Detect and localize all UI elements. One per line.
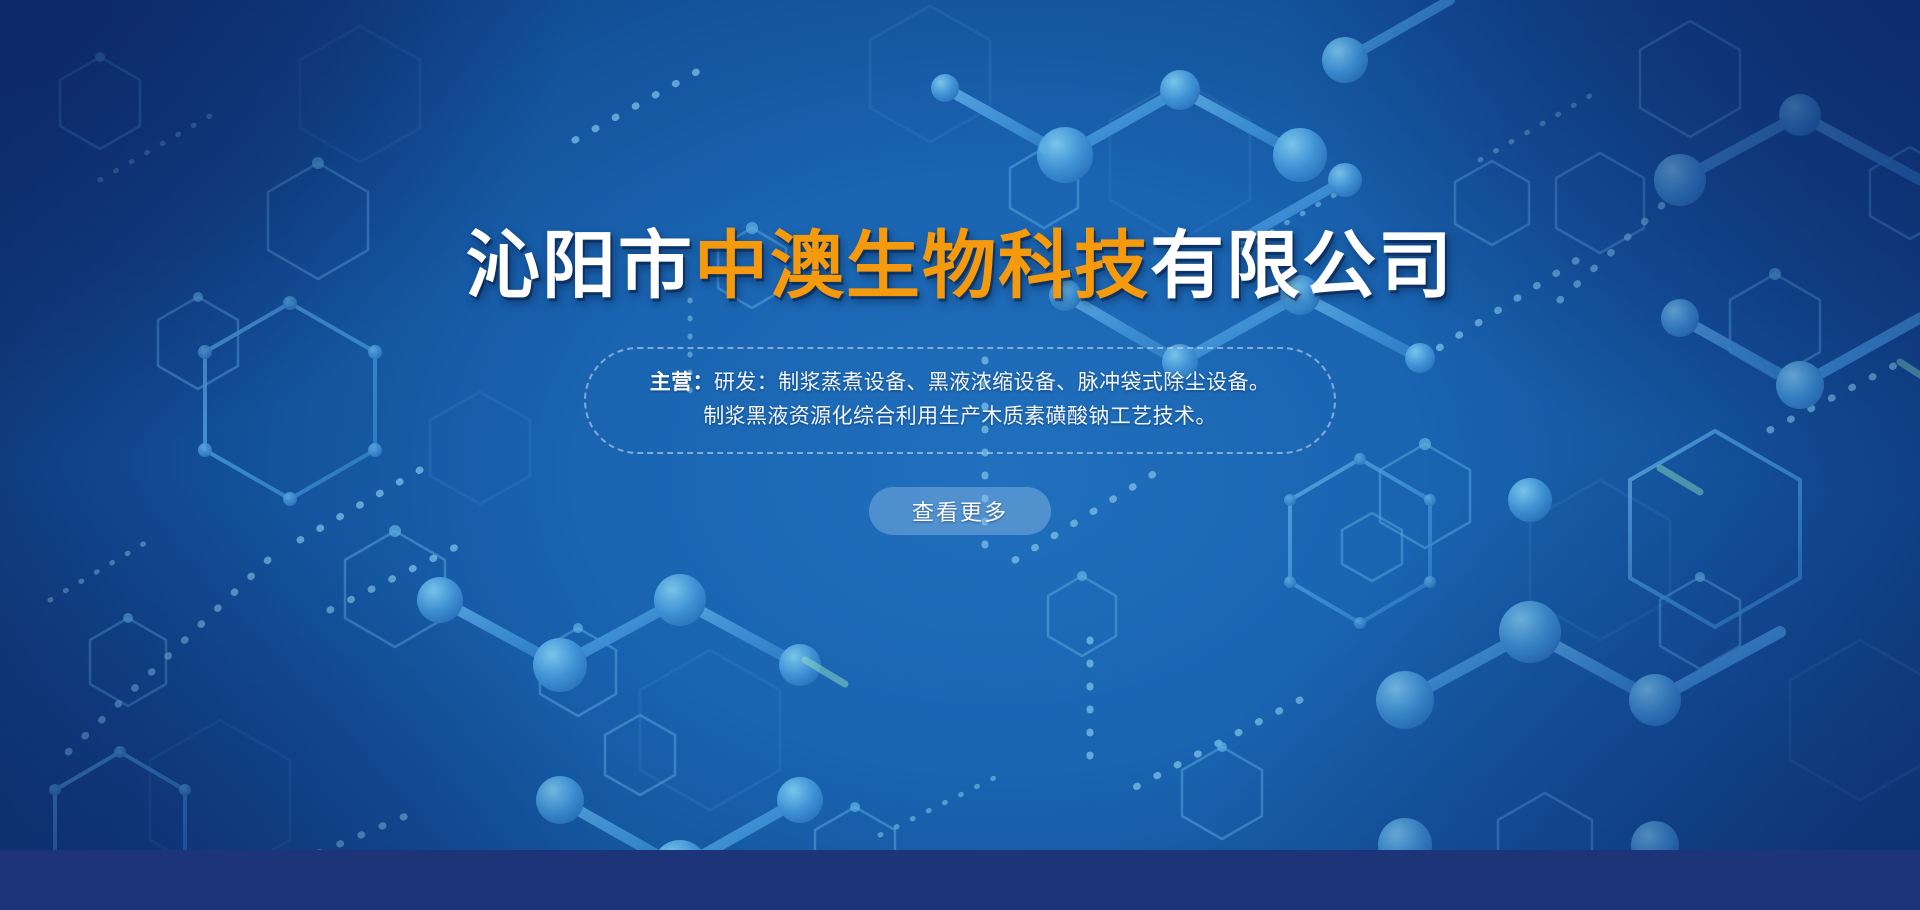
subtitle-line-2: 制浆黑液资源化综合利用生产木质素磺酸钠工艺技术。 [650,400,1271,433]
page-title-highlight: 中澳生物科技 [694,224,1150,307]
subtitle-box: 主营：研发：制浆蒸煮设备、黑液浓缩设备、脉冲袋式除尘设备。 制浆黑液资源化综合利… [584,347,1337,453]
view-more-button[interactable]: 查看更多 [869,487,1051,535]
hero-banner: 沁阳市中澳生物科技有限公司 主营：研发：制浆蒸煮设备、黑液浓缩设备、脉冲袋式除尘… [0,0,1920,910]
bottom-strip [0,850,1920,910]
page-title-suffix: 有限公司 [1150,224,1454,307]
page-title: 沁阳市中澳生物科技有限公司 [466,229,1454,303]
subtitle-label: 主营： [650,371,714,394]
page-title-prefix: 沁阳市 [466,224,694,307]
hero-content: 沁阳市中澳生物科技有限公司 主营：研发：制浆蒸煮设备、黑液浓缩设备、脉冲袋式除尘… [0,0,1920,850]
subtitle-line-1-text: 研发：制浆蒸煮设备、黑液浓缩设备、脉冲袋式除尘设备。 [714,371,1270,394]
subtitle-line-1: 主营：研发：制浆蒸煮设备、黑液浓缩设备、脉冲袋式除尘设备。 [650,366,1271,399]
